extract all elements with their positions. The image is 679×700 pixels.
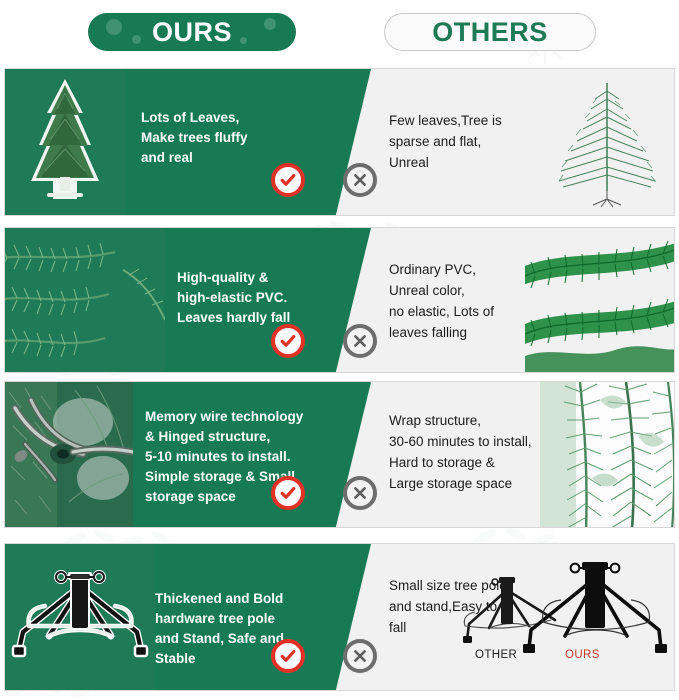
ours-image-hinged-memory-wire-branch	[5, 382, 133, 527]
stand-label-ours: OURS	[565, 649, 600, 661]
ours-header-label: OURS	[152, 17, 232, 48]
others-header-label: OTHERS	[432, 17, 548, 48]
ours-header-pill: OURS	[88, 13, 296, 51]
ours-feature-text: High-quality & high-elastic PVC. Leaves …	[177, 268, 290, 328]
comparison-row: Lots of Leaves, Make trees fluffy and re…	[4, 68, 675, 216]
ours-feature-text: Lots of Leaves, Make trees fluffy and re…	[141, 108, 248, 168]
others-header-pill: OTHERS	[384, 13, 596, 51]
cross-icon	[343, 324, 377, 358]
check-icon	[271, 324, 305, 358]
cross-icon	[343, 163, 377, 197]
stand-label-other: OTHER	[475, 649, 517, 661]
check-icon	[271, 476, 305, 510]
comparison-row: High-quality & high-elastic PVC. Leaves …	[4, 227, 675, 373]
sparkle-decoration	[106, 19, 122, 35]
others-feature-text: Small size tree pole and stand,Easy to f…	[389, 576, 507, 639]
others-image-sparse-christmas-tree	[535, 69, 675, 215]
others-image-wrap-structure-branch	[540, 382, 675, 527]
others-feature-text: Few leaves,Tree is sparse and flat, Unre…	[389, 111, 502, 174]
ours-image-dense-christmas-tree	[5, 69, 125, 215]
comparison-header: OURS OTHERS	[0, 0, 679, 68]
ours-image-heavy-duty-tree-stand	[5, 544, 155, 690]
comparison-row: Thickened and Bold hardware tree pole an…	[4, 543, 675, 691]
cross-icon	[343, 639, 377, 673]
ours-image-realistic-pvc-branch	[5, 228, 165, 372]
ours-feature-text: Thickened and Bold hardware tree pole an…	[155, 589, 284, 669]
sparkle-decoration	[240, 37, 247, 44]
sparkle-decoration	[132, 35, 141, 44]
comparison-row: Memory wire technology & Hinged structur…	[4, 381, 675, 528]
check-icon	[271, 163, 305, 197]
sparkle-decoration	[264, 18, 276, 30]
others-feature-text: Wrap structure, 30-60 minutes to install…	[389, 411, 532, 495]
others-image-ordinary-pvc-branch	[525, 228, 675, 372]
others-feature-text: Ordinary PVC, Unreal color, no elastic, …	[389, 260, 494, 344]
cross-icon	[343, 476, 377, 510]
check-icon	[271, 639, 305, 673]
